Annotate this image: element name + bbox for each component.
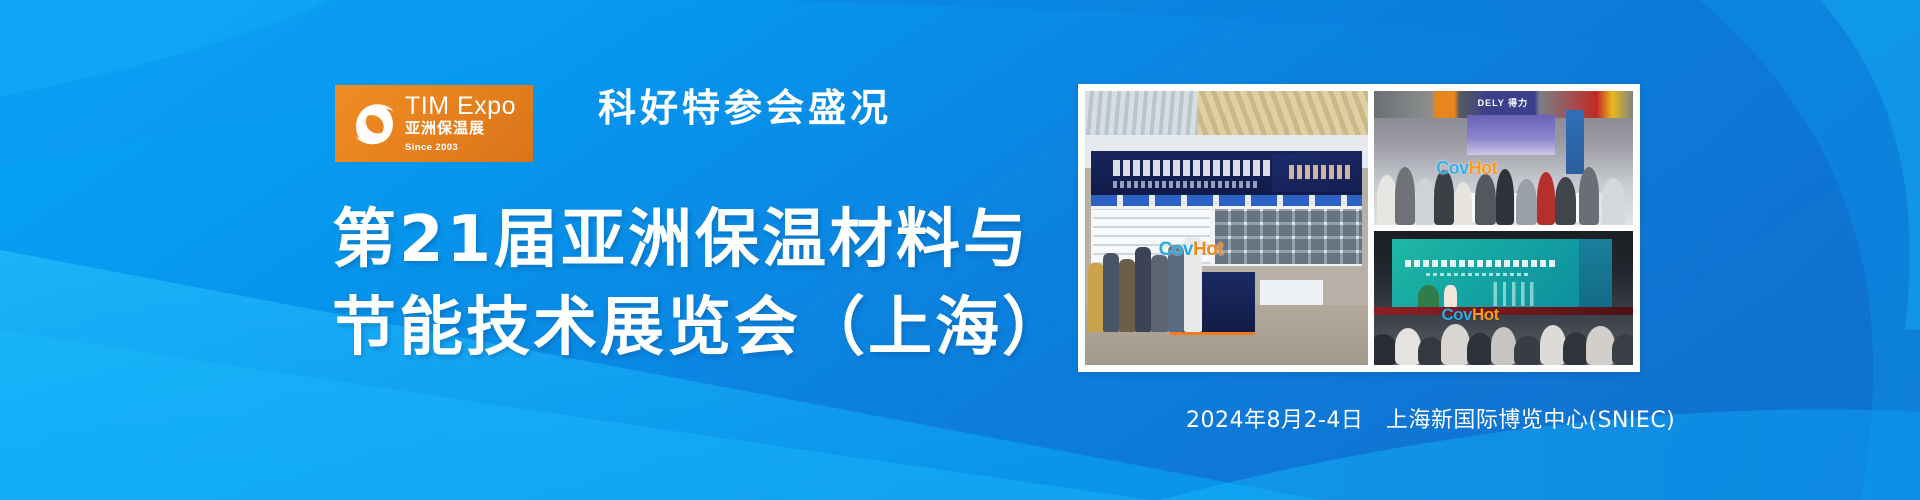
hall-scene: DELY 得力 <box>1374 91 1633 225</box>
exhibition-photo-collage[interactable]: CovHot DELY 得力 <box>1078 84 1640 372</box>
photo-watermark: CovHot <box>1441 305 1498 325</box>
exhibition-banner: TIM Expo 亚洲保温展 Since 2003 科好特参会盛况 第21届亚洲… <box>0 0 1920 500</box>
headline-line-1: 第21届亚洲保温材料与 <box>332 196 1069 284</box>
watermark-cov: Cov <box>1441 305 1472 324</box>
photo-forum[interactable]: CovHot <box>1374 231 1633 365</box>
tim-expo-logo[interactable]: TIM Expo 亚洲保温展 Since 2003 <box>335 85 533 162</box>
photo-booth[interactable]: CovHot <box>1085 91 1368 365</box>
booth-sign-dely: DELY 得力 <box>1478 96 1529 109</box>
headline-line-2: 节能技术展览会（上海） <box>332 284 1069 372</box>
photo-watermark: CovHot <box>1159 239 1224 261</box>
swoosh-circle-icon <box>345 96 401 152</box>
booth-banner-en-text <box>1113 181 1260 188</box>
watermark-cov: Cov <box>1436 158 1469 178</box>
page-title: 第21届亚洲保温材料与 节能技术展览会（上海） <box>332 196 1069 373</box>
kicker-text: 科好特参会盛况 <box>598 87 892 131</box>
photo-watermark: CovHot <box>1436 158 1497 179</box>
logo-title-cn: 亚洲保温展 <box>405 121 516 136</box>
watermark-hot: Hot <box>1472 305 1499 324</box>
forum-screen-title <box>1405 260 1555 267</box>
photo-hall[interactable]: DELY 得力 <box>1374 91 1633 225</box>
collage-right-column: DELY 得力 <box>1374 91 1633 365</box>
watermark-cov: Cov <box>1159 239 1193 260</box>
logo-since: Since 2003 <box>405 143 516 153</box>
watermark-hot: Hot <box>1193 239 1223 260</box>
forum-scene: CovHot <box>1374 231 1633 365</box>
booth-banner-cn-text <box>1113 160 1288 176</box>
event-date-venue: 2024年8月2-4日 上海新国际博览中心(SNIEC) <box>1186 402 1675 434</box>
booth-scene: CovHot <box>1085 91 1368 365</box>
logo-title-en: TIM Expo <box>405 94 516 119</box>
hall-crowd <box>1374 145 1633 225</box>
forum-audience <box>1374 306 1633 365</box>
watermark-hot: Hot <box>1469 158 1498 178</box>
booth-side-banner-text <box>1289 165 1351 179</box>
